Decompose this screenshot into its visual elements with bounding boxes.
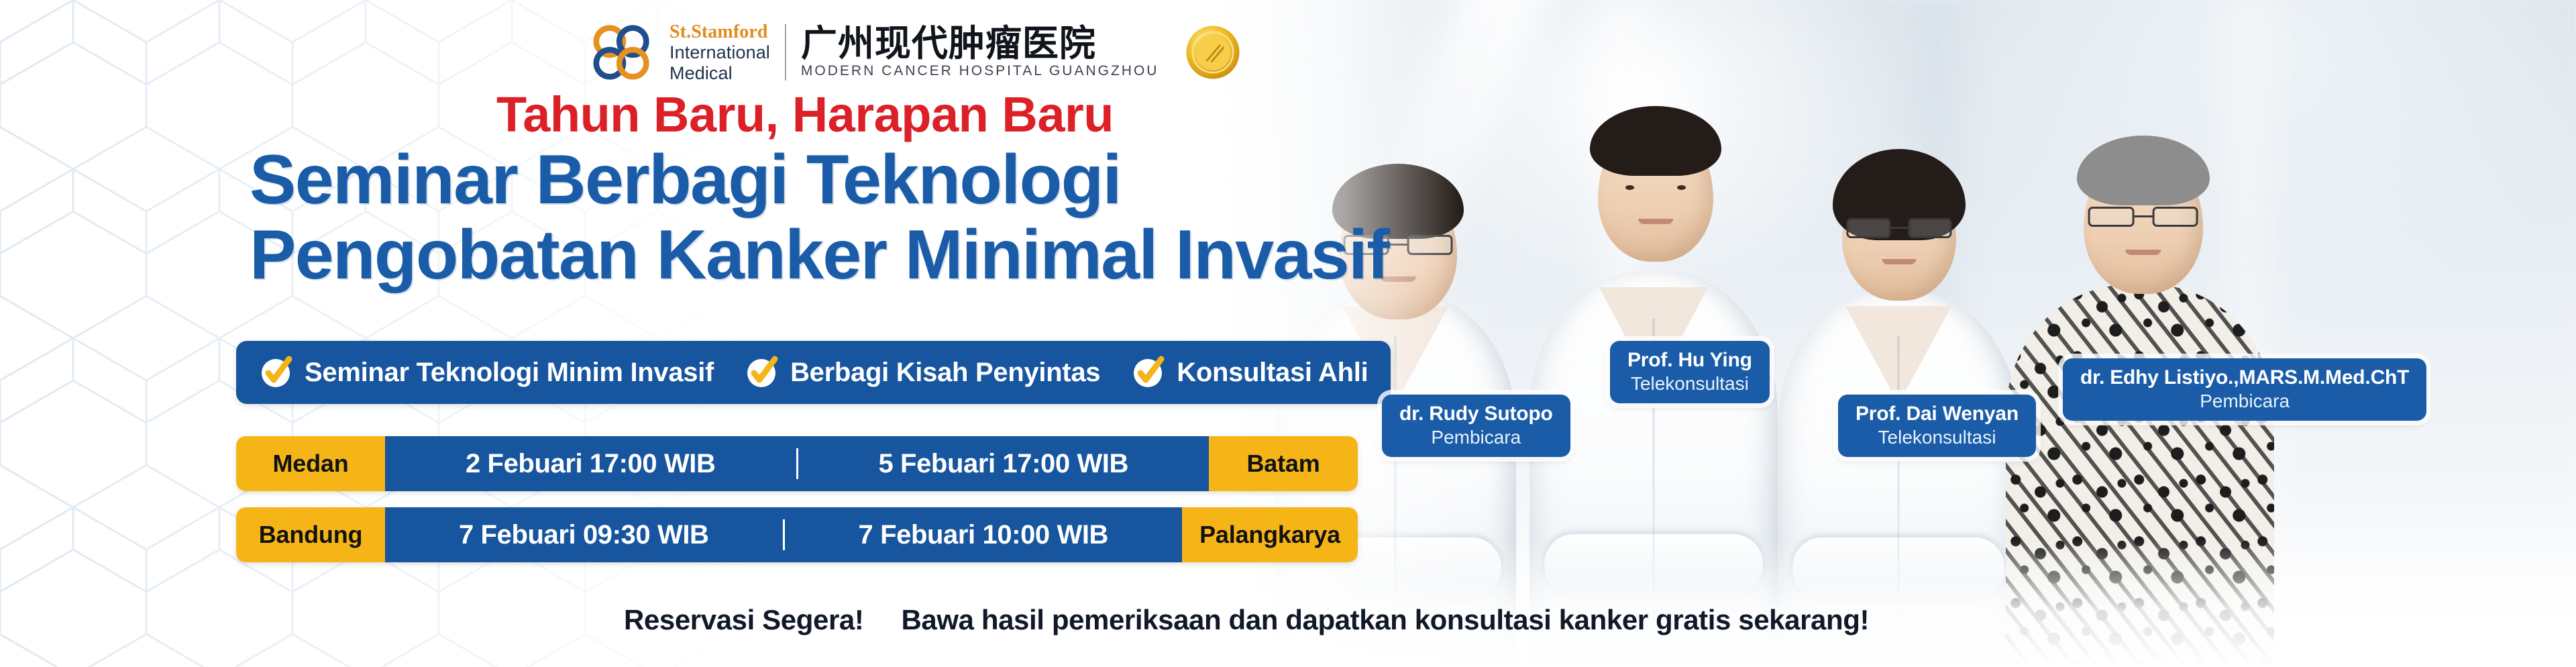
speaker-name: dr. Rudy Sutopo: [1399, 403, 1553, 425]
cta-secondary-text: Bawa hasil pemeriksaan dan dapatkan kons…: [901, 604, 1869, 636]
city-chip-right: Batam: [1209, 436, 1358, 491]
logo-chinese-name: 广州现代肿瘤医院: [801, 25, 1159, 62]
schedule-times: 7 Febuari 09:30 WIB 7 Febuari 10:00 WIB: [385, 507, 1182, 562]
city-chip-right: Palangkarya: [1182, 507, 1358, 562]
schedule-times: 2 Febuari 17:00 WIB 5 Febuari 17:00 WIB: [385, 436, 1209, 491]
logo-line-2: International: [669, 42, 770, 62]
title-line-2: Pengobatan Kanker Minimal Invasif: [250, 220, 1389, 290]
schedule-list: Medan 2 Febuari 17:00 WIB 5 Febuari 17:0…: [236, 436, 1358, 578]
logo-divider: [785, 24, 786, 81]
feature-bar: Seminar Teknologi Minim Invasif Berbagi …: [236, 341, 1391, 404]
speaker-badge-dai-wenyan: Prof. Dai Wenyan Telekonsultasi: [1838, 395, 2036, 457]
check-circle-icon: [1131, 355, 1166, 390]
page-title: Seminar Berbagi Teknologi Pengobatan Kan…: [250, 145, 1389, 290]
speaker-name: dr. Edhy Listiyo.,MARS.M.Med.ChT: [2080, 366, 2409, 389]
schedule-row: Medan 2 Febuari 17:00 WIB 5 Febuari 17:0…: [236, 436, 1358, 491]
feature-label-1: Seminar Teknologi Minim Invasif: [305, 358, 714, 388]
time-left: 7 Febuari 09:30 WIB: [385, 520, 783, 550]
speaker-role: Telekonsultasi: [1856, 427, 2019, 448]
speaker-name: Prof. Hu Ying: [1627, 349, 1752, 372]
gold-medal-icon: [1184, 23, 1242, 81]
speaker-badge-edhy-listiyo: dr. Edhy Listiyo.,MARS.M.Med.ChT Pembica…: [2063, 358, 2426, 421]
time-right: 7 Febuari 10:00 WIB: [785, 520, 1183, 550]
speaker-name: Prof. Dai Wenyan: [1856, 403, 2019, 425]
speaker-role: Pembicara: [2080, 391, 2409, 411]
photo-bottom-fade: [1154, 540, 2576, 667]
logo-hospital-name: 广州现代肿瘤医院 MODERN CANCER HOSPITAL GUANGZHO…: [801, 25, 1159, 79]
call-to-action: Reservasi Segera! Bawa hasil pemeriksaan…: [624, 604, 1869, 636]
title-line-1: Seminar Berbagi Teknologi: [250, 141, 1121, 219]
kicker-text: Tahun Baru, Harapan Baru: [496, 86, 1114, 143]
hospital-logo: St.Stamford International Medical 广州现代肿瘤…: [590, 21, 1242, 83]
cta-primary-text: Reservasi Segera!: [624, 604, 863, 636]
logo-english-subtitle: MODERN CANCER HOSPITAL GUANGZHOU: [801, 63, 1159, 79]
logo-line-3: Medical: [669, 63, 770, 83]
feature-label-3: Konsultasi Ahli: [1177, 358, 1368, 388]
promo-banner: St.Stamford International Medical 广州现代肿瘤…: [0, 0, 2576, 667]
infinity-loop-logo-icon: [590, 23, 655, 81]
doctors-photo-panel: [1154, 0, 2576, 667]
speaker-badge-hu-ying: Prof. Hu Ying Telekonsultasi: [1610, 341, 1770, 403]
feature-item-2: Berbagi Kisah Penyintas: [745, 355, 1100, 390]
schedule-row: Bandung 7 Febuari 09:30 WIB 7 Febuari 10…: [236, 507, 1358, 562]
logo-english-name: St.Stamford International Medical: [669, 21, 770, 83]
check-circle-icon: [259, 355, 294, 390]
speaker-role: Telekonsultasi: [1627, 373, 1752, 394]
feature-item-1: Seminar Teknologi Minim Invasif: [259, 355, 714, 390]
feature-item-3: Konsultasi Ahli: [1131, 355, 1368, 390]
speaker-badge-rudy-sutopo: dr. Rudy Sutopo Pembicara: [1382, 395, 1570, 457]
time-right: 5 Febuari 17:00 WIB: [798, 449, 1210, 479]
city-chip-left: Bandung: [236, 507, 385, 562]
check-circle-icon: [745, 355, 780, 390]
city-chip-left: Medan: [236, 436, 385, 491]
time-left: 2 Febuari 17:00 WIB: [385, 449, 796, 479]
feature-label-2: Berbagi Kisah Penyintas: [790, 358, 1100, 388]
logo-line-1: St.Stamford: [669, 21, 770, 42]
speaker-role: Pembicara: [1399, 427, 1553, 448]
